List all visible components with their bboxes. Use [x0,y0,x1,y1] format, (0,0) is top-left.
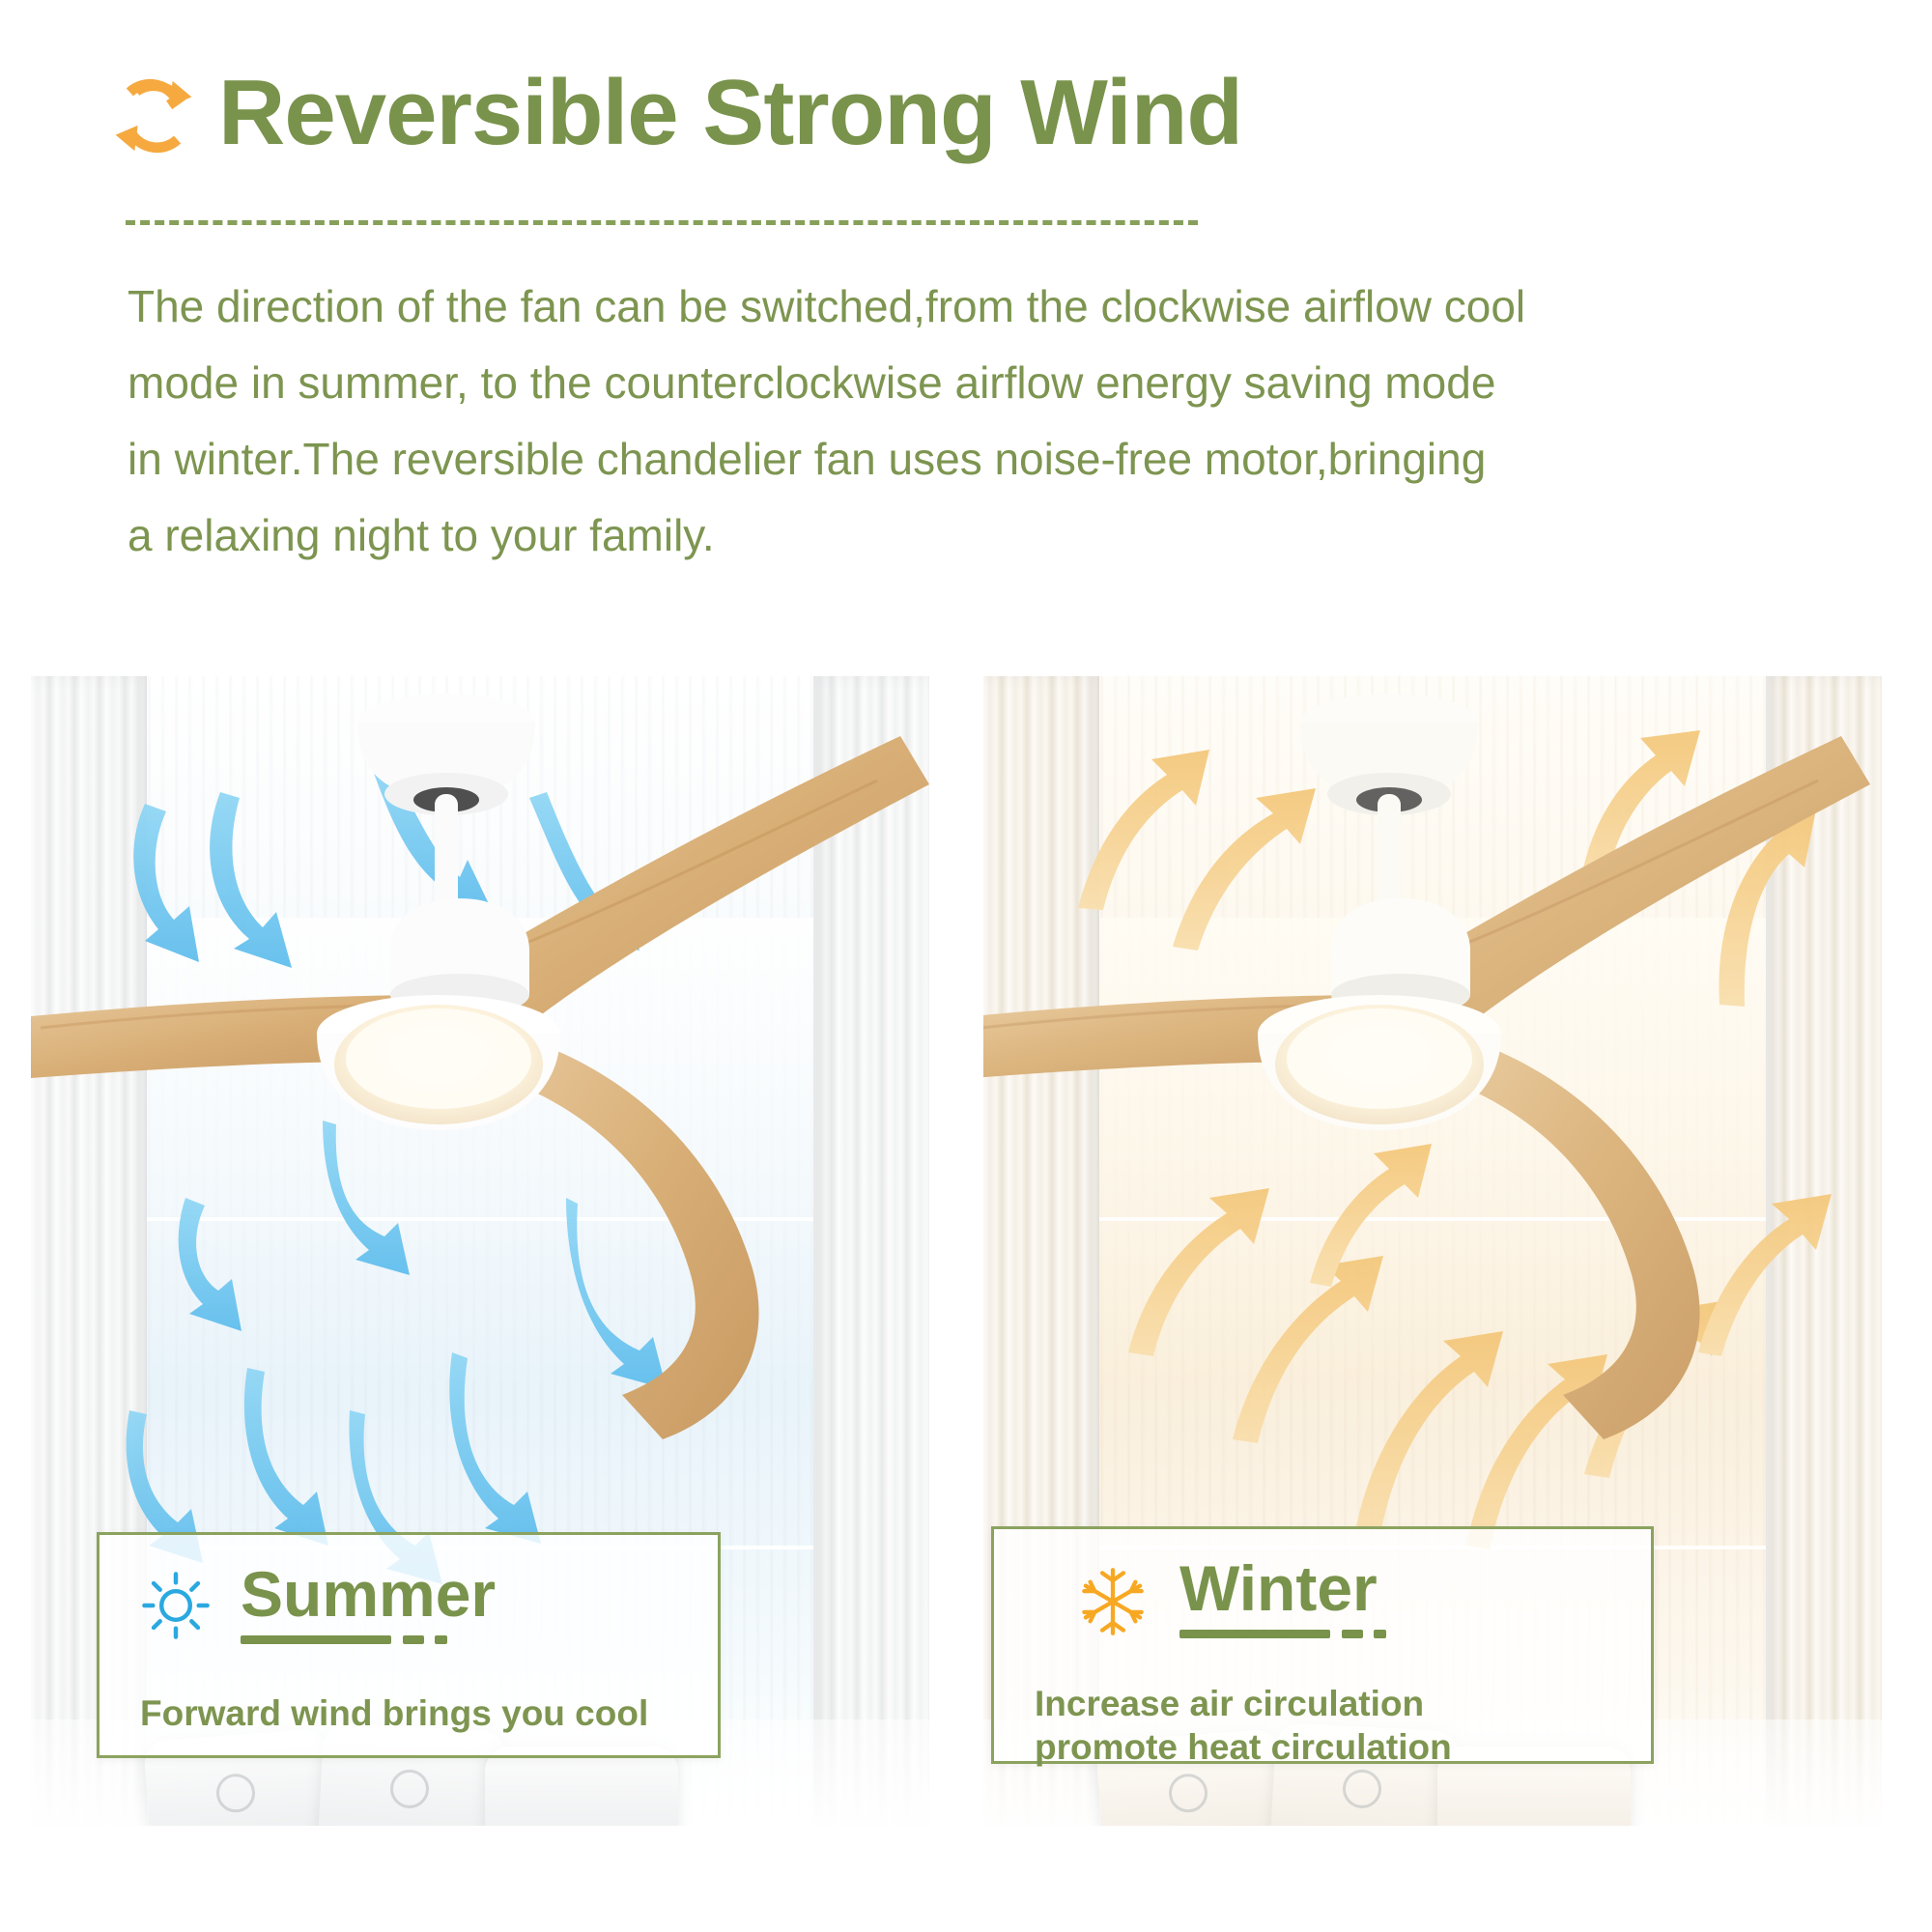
label-box-winter: Winter Increase air circulation promote … [991,1526,1654,1764]
fan-led-light [317,995,560,1130]
body-copy: The direction of the fan can be switched… [128,269,1828,574]
body-line: in winter.The reversible chandelier fan … [128,421,1828,497]
dashed-divider [126,220,1198,225]
summer-subtitle-wrap: Forward wind brings you cool [140,1680,648,1735]
panel-winter: Winter Increase air circulation promote … [983,676,1882,1826]
panel-summer: Summer Forward wind brings you cool [31,676,929,1826]
season-subtitle-winter: promote heat circulation [1035,1727,1452,1769]
season-name-summer: Summer [241,1562,718,1626]
season-name-winter: Winter [1179,1556,1651,1620]
fan-led-light [1258,995,1501,1130]
refresh-reverse-icon [114,76,193,156]
body-line: mode in summer, to the counterclockwise … [128,345,1828,421]
body-line: The direction of the fan can be switched… [128,269,1828,345]
season-subtitle-summer: Forward wind brings you cool [140,1693,648,1735]
title-row: Reversible Strong Wind [114,60,1242,166]
season-subtitle-winter: Increase air circulation [1035,1684,1452,1725]
season-rule [1179,1630,1651,1638]
snowflake-icon [1075,1564,1151,1639]
season-rule [241,1635,718,1644]
sun-icon [140,1570,212,1641]
body-line: a relaxing night to your family. [128,497,1828,574]
header-section: Reversible Strong Wind The direction of … [0,0,1932,667]
page-title: Reversible Strong Wind [218,67,1242,159]
winter-subtitle-wrap: Increase air circulation promote heat ci… [1035,1670,1452,1769]
airflow-arrow-group-summer [127,763,667,1584]
label-box-summer: Summer Forward wind brings you cool [97,1532,721,1758]
